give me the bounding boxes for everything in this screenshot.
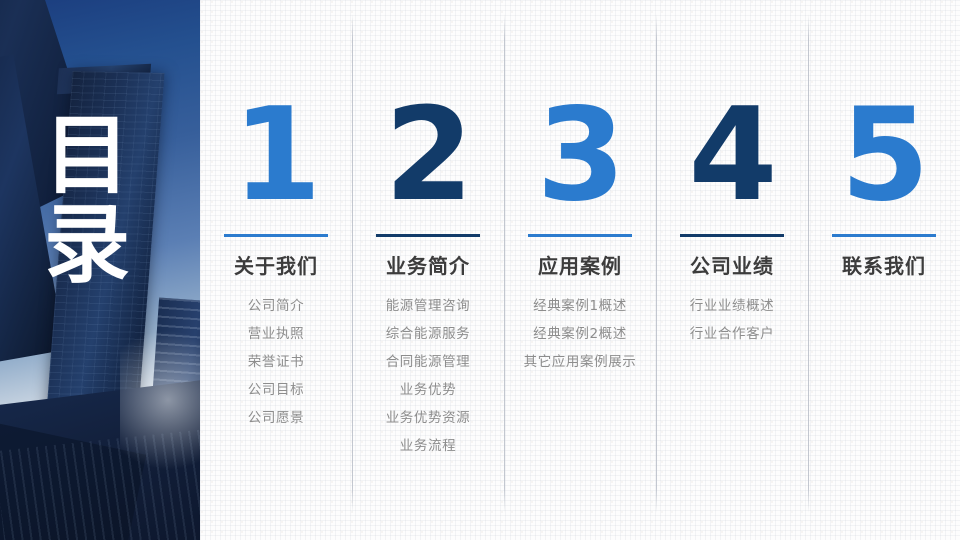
list-item[interactable]: 业务流程 — [352, 432, 504, 460]
section-underline-4 — [680, 234, 784, 237]
toc-columns: 1 关于我们 公司简介 营业执照 荣誉证书 公司目标 公司愿景 2 业务简介 能… — [200, 0, 960, 540]
sun-haze — [120, 330, 200, 470]
section-heading-1[interactable]: 关于我们 — [200, 250, 352, 279]
list-item[interactable]: 行业合作客户 — [656, 320, 808, 348]
list-item[interactable]: 行业业绩概述 — [656, 292, 808, 320]
list-item[interactable]: 业务优势资源 — [352, 404, 504, 432]
section-number-2: 2 — [352, 92, 504, 222]
list-item[interactable]: 经典案例2概述 — [504, 320, 656, 348]
toc-column-4[interactable]: 4 公司业绩 行业业绩概述 行业合作客户 — [656, 0, 808, 540]
skyscraper-photo: 目 录 — [0, 0, 200, 540]
list-item[interactable]: 营业执照 — [200, 320, 352, 348]
section-underline-2 — [376, 234, 480, 237]
section-items-2: 能源管理咨询 综合能源服务 合同能源管理 业务优势 业务优势资源 业务流程 — [352, 292, 504, 460]
toc-column-2[interactable]: 2 业务简介 能源管理咨询 综合能源服务 合同能源管理 业务优势 业务优势资源 … — [352, 0, 504, 540]
list-item[interactable]: 公司简介 — [200, 292, 352, 320]
section-items-3: 经典案例1概述 经典案例2概述 其它应用案例展示 — [504, 292, 656, 376]
page-title-char-2: 录 — [44, 201, 154, 290]
section-number-5: 5 — [808, 92, 960, 222]
list-item[interactable]: 公司目标 — [200, 376, 352, 404]
section-items-1: 公司简介 营业执照 荣誉证书 公司目标 公司愿景 — [200, 292, 352, 432]
list-item[interactable]: 合同能源管理 — [352, 348, 504, 376]
section-heading-2[interactable]: 业务简介 — [352, 250, 504, 279]
section-heading-5[interactable]: 联系我们 — [808, 250, 960, 279]
list-item[interactable]: 公司愿景 — [200, 404, 352, 432]
section-number-1: 1 — [200, 92, 352, 222]
section-underline-3 — [528, 234, 632, 237]
toc-column-5[interactable]: 5 联系我们 — [808, 0, 960, 540]
section-number-4: 4 — [656, 92, 808, 222]
toc-column-3[interactable]: 3 应用案例 经典案例1概述 经典案例2概述 其它应用案例展示 — [504, 0, 656, 540]
page-title-char-1: 目 — [44, 112, 154, 201]
list-item[interactable]: 综合能源服务 — [352, 320, 504, 348]
section-heading-3[interactable]: 应用案例 — [504, 250, 656, 279]
page-title: 目 录 — [44, 112, 154, 289]
list-item[interactable]: 其它应用案例展示 — [504, 348, 656, 376]
list-item[interactable]: 经典案例1概述 — [504, 292, 656, 320]
section-heading-4[interactable]: 公司业绩 — [656, 250, 808, 279]
list-item[interactable]: 荣誉证书 — [200, 348, 352, 376]
section-underline-1 — [224, 234, 328, 237]
slide-canvas: 目 录 1 关于我们 公司简介 营业执照 荣誉证书 公司目标 公司愿景 2 业务… — [0, 0, 960, 540]
section-underline-5 — [832, 234, 936, 237]
toc-column-1[interactable]: 1 关于我们 公司简介 营业执照 荣誉证书 公司目标 公司愿景 — [200, 0, 352, 540]
list-item[interactable]: 能源管理咨询 — [352, 292, 504, 320]
list-item[interactable]: 业务优势 — [352, 376, 504, 404]
section-number-3: 3 — [504, 92, 656, 222]
section-items-4: 行业业绩概述 行业合作客户 — [656, 292, 808, 348]
